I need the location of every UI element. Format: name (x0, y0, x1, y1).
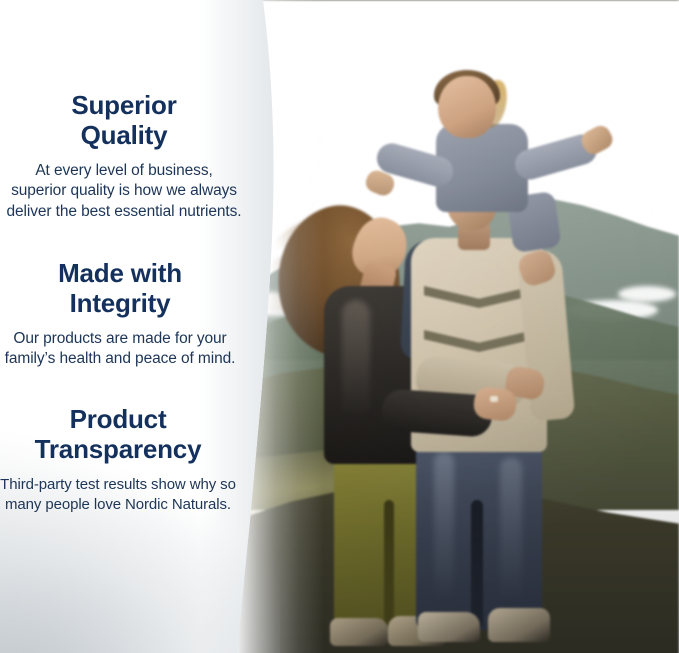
value-body: Our products are made for your family’s … (2, 329, 238, 370)
brand-values-banner: SuperiorQuality At every level of busine… (0, 0, 679, 653)
value-body: At every level of business, superior qua… (6, 161, 242, 223)
value-block-made-with-integrity: Made withIntegrity Our products are made… (2, 258, 238, 370)
man-shoe (418, 612, 480, 642)
value-title: SuperiorQuality (6, 90, 242, 151)
value-title-line-2: Transparency (35, 434, 202, 464)
ring (490, 396, 498, 402)
value-title-line-1: Superior (71, 90, 176, 120)
value-title: ProductTransparency (0, 404, 236, 465)
child-face (438, 76, 496, 138)
jeans-shadow (471, 500, 483, 630)
value-block-product-transparency: ProductTransparency Third-party test res… (0, 404, 236, 515)
sun-over-waves-icon (603, 19, 660, 69)
man-shoe (488, 608, 550, 642)
jeans-highlight (500, 458, 522, 604)
lifestyle-photo (238, 0, 679, 653)
family-group (238, 0, 679, 653)
nordic-naturals-logo (599, 18, 661, 70)
woman-pants-shadow (384, 500, 394, 632)
value-title: Made withIntegrity (2, 258, 238, 319)
woman-shoe (330, 618, 388, 646)
value-title-line-1: Made with (58, 258, 182, 288)
value-title-line-2: Integrity (70, 288, 171, 318)
value-title-line-1: Product (70, 404, 167, 434)
jacket-highlight (342, 300, 370, 420)
woman-hand (472, 386, 517, 422)
value-block-superior-quality: SuperiorQuality At every level of busine… (6, 90, 242, 223)
jeans-highlight (434, 452, 454, 602)
value-title-line-2: Quality (81, 120, 168, 150)
value-body: Third-party test results show why so man… (0, 475, 236, 515)
value-propositions: SuperiorQuality At every level of busine… (0, 0, 252, 653)
